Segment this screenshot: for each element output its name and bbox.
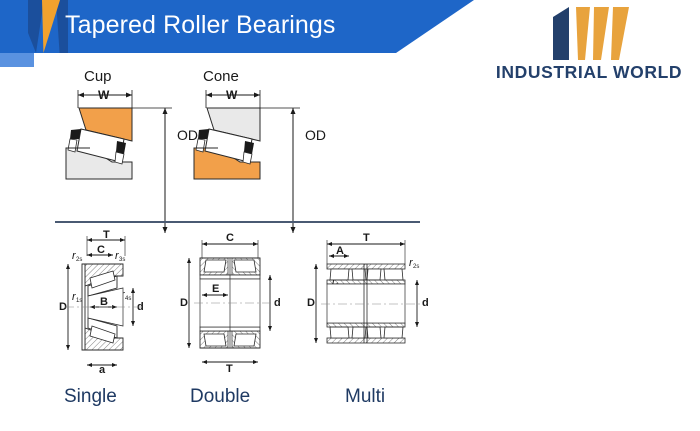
- svg-text:1s: 1s: [76, 298, 82, 304]
- svg-text:D: D: [180, 297, 188, 309]
- svg-text:T: T: [226, 363, 233, 375]
- section-divider: [55, 221, 420, 223]
- svg-text:3s: 3s: [119, 257, 125, 263]
- svg-text:E: E: [212, 283, 219, 295]
- svg-text:C: C: [226, 232, 234, 244]
- iw-monogram-icon: [549, 4, 633, 60]
- logo-text: INDUSTRIAL WORLD: [484, 62, 694, 83]
- cone-od-label: OD: [305, 127, 326, 143]
- double-bearing-drawing: C E: [176, 228, 296, 378]
- bottom-diagram-panel: T C r 2s r 3s r 1s r 4s: [0, 228, 470, 428]
- svg-text:T: T: [363, 232, 370, 244]
- svg-text:a: a: [99, 364, 106, 376]
- header-accent-block: [0, 53, 34, 67]
- multi-label: Multi: [345, 386, 385, 408]
- logo: INDUSTRIAL WORLD: [484, 4, 694, 90]
- cone-diagram: W: [178, 86, 348, 236]
- svg-text:D: D: [307, 297, 315, 309]
- multi-bearing-drawing: T A r 2s r 1s: [305, 228, 435, 378]
- svg-text:2s: 2s: [76, 257, 82, 263]
- single-bearing-drawing: T C r 2s r 3s r 1s r 4s: [55, 228, 170, 378]
- slide-canvas: Tapered Roller Bearings INDUSTRIAL WORLD…: [0, 0, 700, 431]
- svg-text:d: d: [422, 297, 429, 309]
- svg-text:A: A: [336, 245, 344, 257]
- cone-caption: Cone: [203, 68, 239, 85]
- svg-text:4s: 4s: [125, 296, 131, 302]
- svg-text:2s: 2s: [413, 264, 419, 270]
- svg-text:W: W: [226, 88, 238, 102]
- svg-text:B: B: [100, 296, 108, 308]
- cup-caption: Cup: [84, 68, 112, 85]
- single-label: Single: [64, 386, 117, 408]
- svg-text:W: W: [98, 88, 110, 102]
- svg-text:C: C: [97, 244, 105, 256]
- page-title: Tapered Roller Bearings: [65, 11, 336, 40]
- double-label: Double: [190, 386, 250, 408]
- svg-text:T: T: [103, 229, 110, 241]
- top-diagram-panel: Cup W OD: [0, 60, 470, 210]
